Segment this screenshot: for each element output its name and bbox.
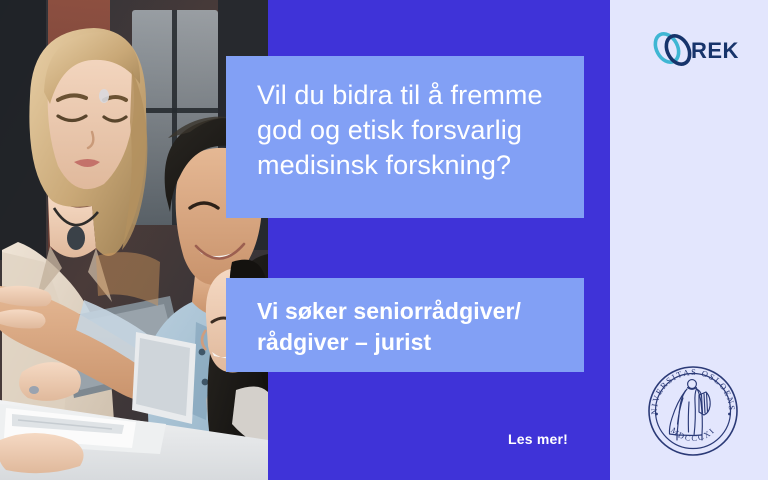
headline-text: Vil du bidra til å fremme god og etisk f… — [257, 78, 554, 183]
recruitment-banner: Vil du bidra til å fremme god og etisk f… — [0, 0, 768, 480]
role-title-text: Vi søker seniorrådgiver/ rådgiver – juri… — [257, 296, 554, 358]
read-more-link[interactable]: Les mer! — [508, 431, 568, 447]
role-card: Vi søker seniorrådgiver/ rådgiver – juri… — [226, 278, 584, 372]
rek-wordmark: REK — [691, 38, 739, 63]
rek-logo[interactable]: REK — [650, 26, 742, 72]
headline-card: Vil du bidra til å fremme god og etisk f… — [226, 56, 584, 218]
uio-seal[interactable]: UNIVERSITAS OSLOENSIS MDCCCXI — [644, 362, 742, 460]
